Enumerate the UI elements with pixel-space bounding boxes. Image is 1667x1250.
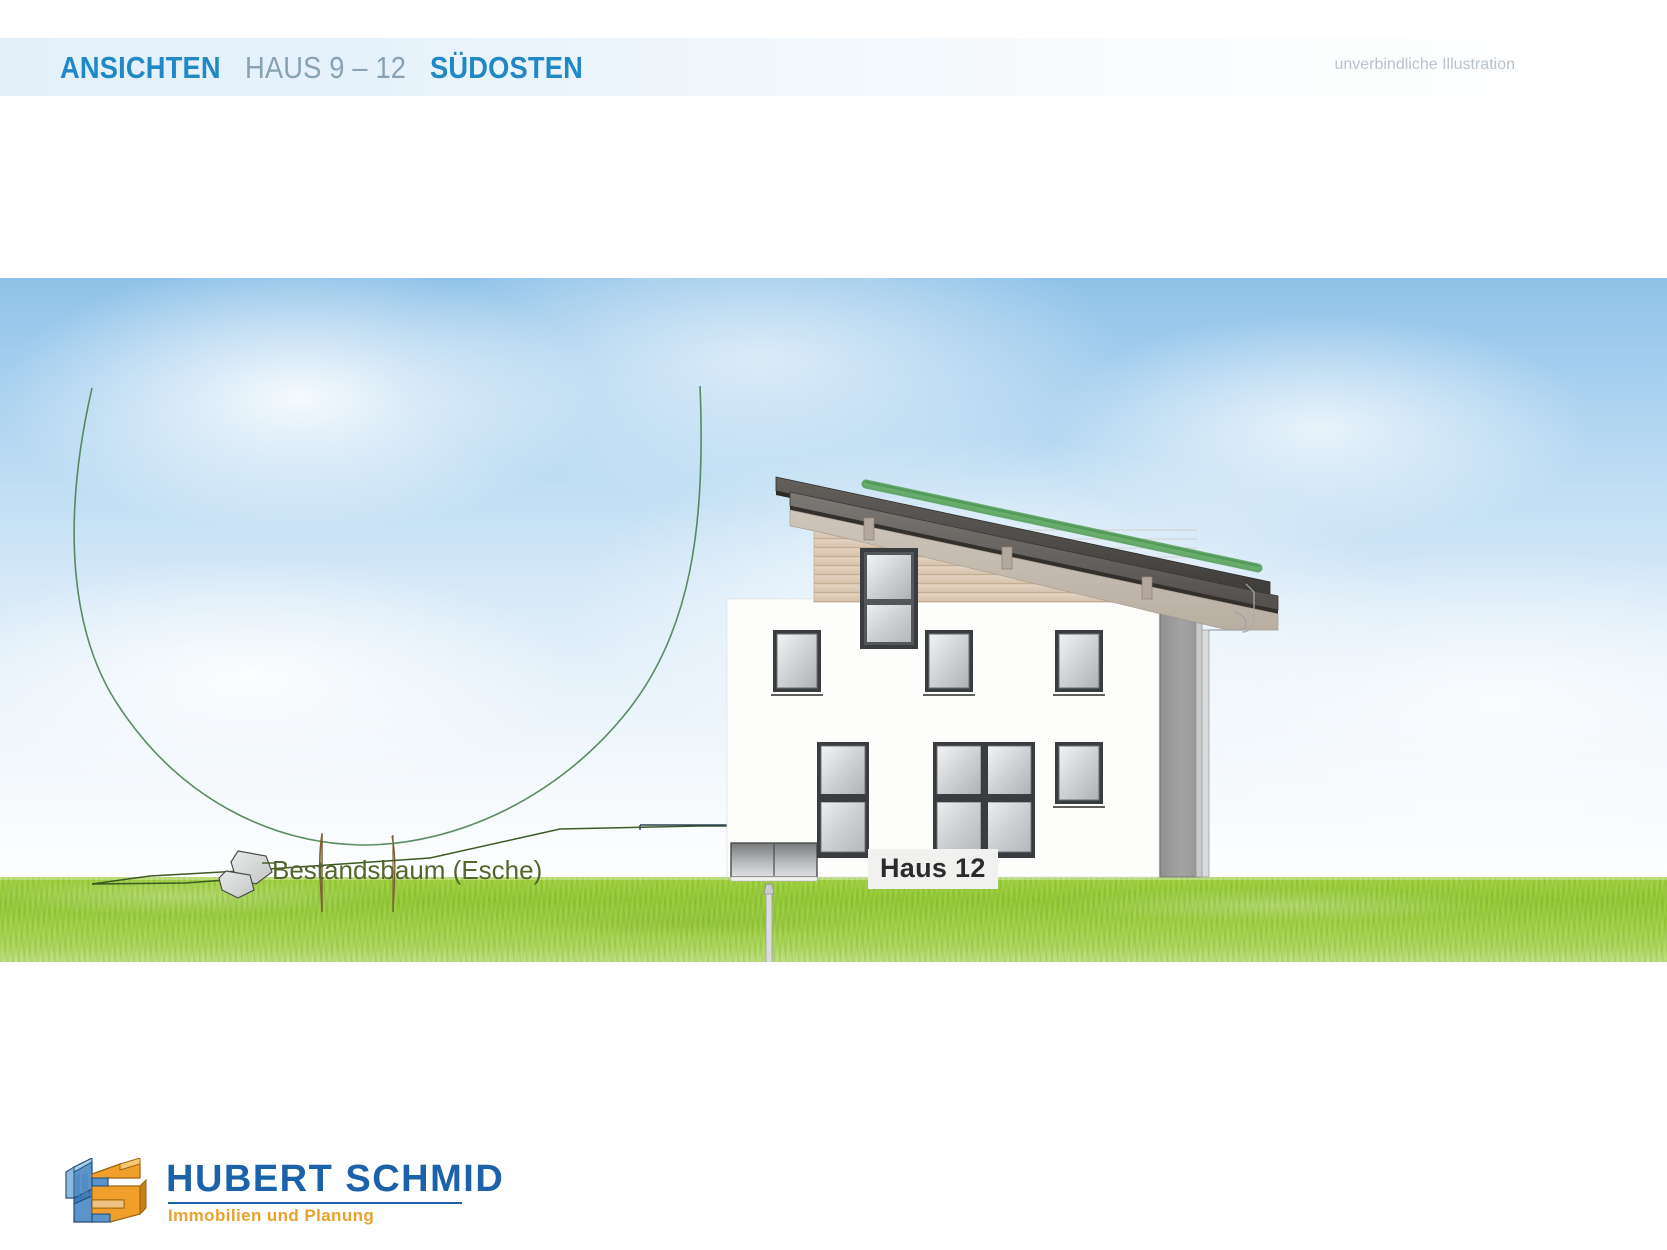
window-middle-1 (771, 630, 823, 695)
page-title-primary: ANSICHTEN (60, 52, 221, 83)
downspout-left (757, 884, 774, 962)
disclaimer-note: unverbindliche Illustration (1334, 56, 1515, 74)
logo-wordmark: HUBERT SCHMID Immobilien und Planung (166, 1158, 504, 1224)
logo-tagline: Immobilien und Planung (168, 1207, 504, 1224)
tree-leader-marker (219, 851, 276, 898)
french-door-ground-center (933, 742, 1035, 858)
logo-divider (168, 1202, 462, 1204)
window-ground-right (1053, 742, 1105, 807)
page-title: ANSICHTEN HAUS 9 – 12 SÜDOSTEN (60, 45, 604, 89)
house-label: Haus 12 (868, 849, 998, 889)
logo-company-name: HUBERT SCHMID (166, 1160, 504, 1198)
existing-tree (74, 386, 701, 912)
elevation-drawing (0, 278, 1667, 962)
elevation-illustration (0, 278, 1667, 962)
window-attic (860, 548, 918, 649)
roof-terrace-parapet (731, 843, 817, 881)
page-title-orientation: SÜDOSTEN (430, 52, 583, 83)
window-middle-2 (923, 630, 975, 695)
house-12-elevation (640, 477, 1278, 962)
company-logo: HUBERT SCHMID Immobilien und Planung (58, 1158, 504, 1233)
tree-annotation-label: Bestandsbaum (Esche) (272, 855, 542, 886)
french-window-ground-left (817, 742, 869, 858)
hs-monogram-icon (58, 1158, 150, 1233)
side-wing-wall (1157, 596, 1202, 877)
window-middle-3 (1053, 630, 1105, 695)
page-title-secondary: HAUS 9 – 12 (245, 52, 406, 83)
